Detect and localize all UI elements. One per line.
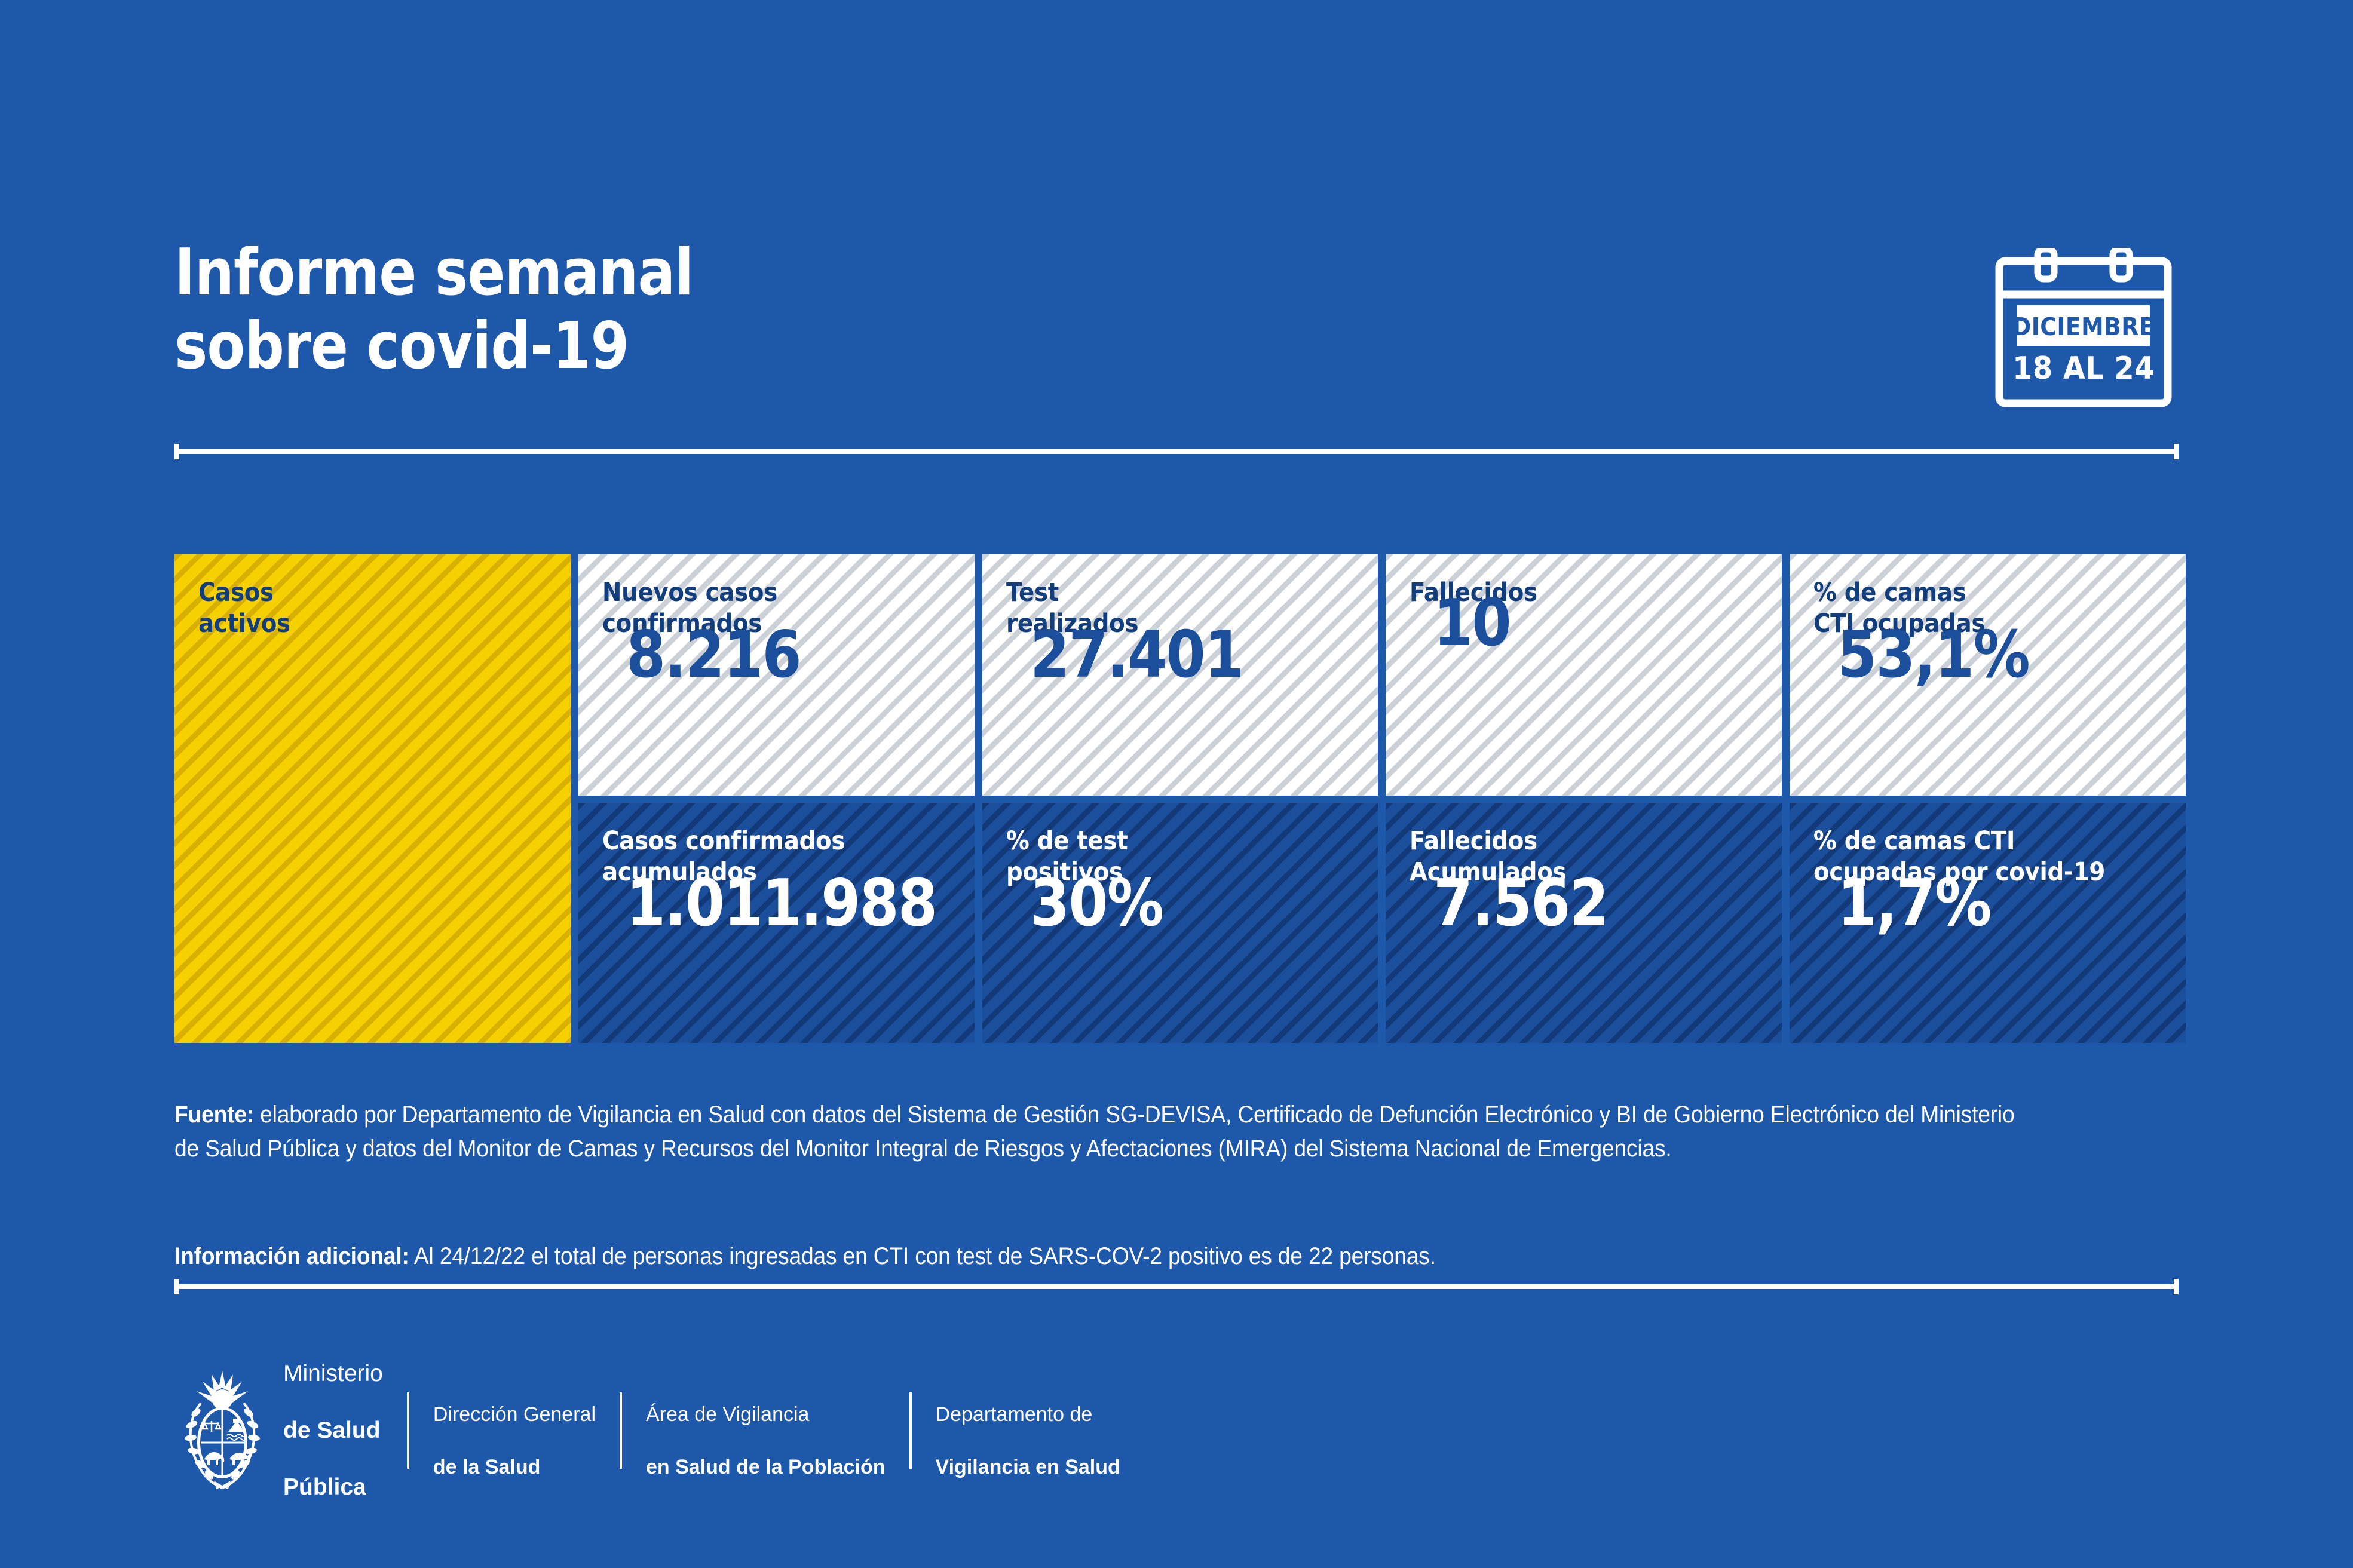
stat-card-casos-confirmados-acumulados: Casos confirmados acumulados 1.011.988 (578, 803, 975, 1043)
stat-value: 8.216 (626, 623, 933, 688)
ministry-line-2: de Salud (283, 1416, 383, 1445)
stat-card-porcentaje-test-positivos: % de test positivos 30% (982, 803, 1378, 1043)
stat-value: 10 (1433, 591, 1740, 656)
stat-value: 1.011.988 (626, 872, 933, 936)
stat-card-porcentaje-camas-cti-ocupadas: % de camas CTI ocupadas 53,1% (1790, 554, 2186, 796)
footer-unit-departamento-vigilancia: Departamento de Vigilancia en Salud (936, 1355, 1120, 1507)
stat-card-test-realizados: Test realizados 27.401 (982, 554, 1378, 796)
source-note-label: Fuente: (174, 1101, 254, 1128)
stat-value: 27.401 (1030, 623, 1337, 688)
stat-value: 1,7% (1837, 872, 2144, 936)
stats-grid: Casos activos 7.631 Nuevos casos confirm… (174, 554, 2186, 1043)
unit-line-2: Vigilancia en Salud (936, 1454, 1120, 1480)
unit-line-2: en Salud de la Población (646, 1454, 886, 1480)
footer-divider (407, 1392, 409, 1469)
page-title: Informe semanal sobre covid-19 (174, 236, 1898, 383)
stat-card-nuevos-casos-confirmados: Nuevos casos confirmados 8.216 (578, 554, 975, 796)
stat-card-fallecidos-acumulados: Fallecidos Acumulados 7.562 (1386, 803, 1782, 1043)
calendar-icon: DICIEMBRE 18 AL 24 (1989, 248, 2179, 408)
footer: Ministerio de Salud Pública Dirección Ge… (174, 1362, 1120, 1499)
source-note: Fuente: elaborado por Departamento de Vi… (174, 1098, 2045, 1166)
stat-value: 53,1% (1837, 623, 2144, 688)
uruguay-coat-of-arms-icon (174, 1370, 270, 1492)
divider-bottom (174, 1284, 2179, 1289)
stat-card-fallecidos: Fallecidos 10 (1386, 554, 1782, 796)
additional-info-label: Información adicional: (174, 1243, 409, 1269)
calendar-date-range: 18 AL 24 (2011, 351, 2155, 386)
calendar-month: DICIEMBRE (2011, 312, 2155, 341)
unit-line-1: Departamento de (936, 1401, 1120, 1428)
ministry-name: Ministerio de Salud Pública (283, 1331, 383, 1530)
unit-line-2: de la Salud (433, 1454, 596, 1480)
footer-unit-area-vigilancia: Área de Vigilancia en Salud de la Poblac… (646, 1355, 886, 1507)
footer-divider (909, 1392, 912, 1469)
stat-value: 30% (1030, 872, 1337, 936)
additional-info-note: Información adicional: Al 24/12/22 el to… (174, 1239, 2045, 1274)
ministry-line-1: Ministerio (283, 1360, 383, 1388)
stat-value: 7.562 (1433, 872, 1740, 936)
stat-card-porcentaje-camas-cti-covid: % de camas CTI ocupadas por covid-19 1,7… (1790, 803, 2186, 1043)
infographic-page: Informe semanal sobre covid-19 DICIEMBRE… (0, 0, 2353, 1568)
header: Informe semanal sobre covid-19 DICIEMBRE… (174, 236, 2179, 427)
unit-line-1: Dirección General (433, 1401, 596, 1428)
footer-unit-direccion-general: Dirección General de la Salud (433, 1355, 596, 1507)
stat-label: Casos activos (198, 577, 512, 640)
ministry-line-3: Pública (283, 1473, 383, 1502)
divider-top (174, 449, 2179, 454)
additional-info-text: Al 24/12/22 el total de personas ingresa… (409, 1243, 1436, 1269)
unit-line-1: Área de Vigilancia (646, 1401, 886, 1428)
stat-card-casos-activos: Casos activos 7.631 (174, 554, 571, 1043)
footer-divider (620, 1392, 622, 1469)
source-note-text: elaborado por Departamento de Vigilancia… (174, 1101, 2015, 1162)
